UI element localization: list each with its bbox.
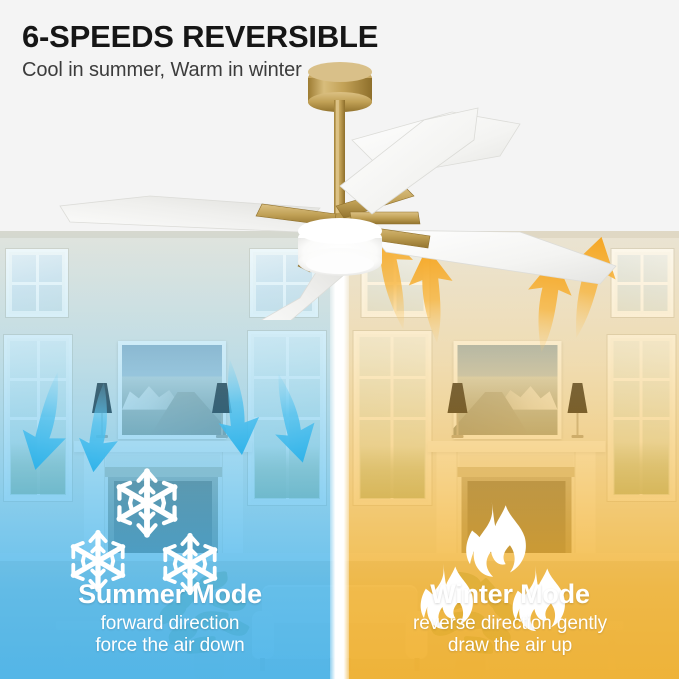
fireplace-column-right <box>436 452 457 567</box>
fireplace-column-left <box>84 452 105 567</box>
fireplace-panel <box>459 455 573 467</box>
winter-mode-line2: draw the air up <box>360 635 660 657</box>
fireplace-column-right <box>222 452 243 567</box>
window-upper-right <box>250 249 318 317</box>
panel-divider <box>330 231 349 679</box>
fan-downrod <box>334 100 345 218</box>
header-block: 6-SPEEDS REVERSIBLE Cool in summer, Warm… <box>22 18 642 83</box>
table-lamp-right <box>447 383 467 438</box>
window-tall-left <box>607 335 675 501</box>
table-lamp-left <box>567 383 587 438</box>
fireplace-lintel <box>104 467 222 477</box>
fan-blade-left <box>60 196 320 232</box>
table-lamp-right <box>212 383 232 438</box>
summer-mode-line1: forward direction <box>20 613 320 635</box>
infographic-page: 6-SPEEDS REVERSIBLE Cool in summer, Warm… <box>0 0 679 679</box>
window-upper-left <box>611 249 673 317</box>
table-lamp-left <box>92 383 112 438</box>
winter-mode-title: Winter Mode <box>360 578 660 611</box>
framed-artwork <box>118 341 226 439</box>
fireplace-lintel <box>457 467 575 477</box>
fireplace-column-left <box>574 452 595 567</box>
framed-artwork <box>453 341 561 439</box>
winter-mode-line1: reverse direction gently <box>360 613 660 635</box>
summer-mode-title: Summer Mode <box>20 578 320 611</box>
window-upper-right <box>361 249 429 317</box>
fireplace-mantel <box>427 441 605 452</box>
summer-mode-line2: force the air down <box>20 635 320 657</box>
fireplace-mantel <box>74 441 252 452</box>
window-tall-right <box>248 331 326 505</box>
page-subtitle: Cool in summer, Warm in winter <box>22 57 642 83</box>
page-title: 6-SPEEDS REVERSIBLE <box>22 18 642 56</box>
fan-blade-upper-right <box>352 112 520 176</box>
window-tall-right <box>353 331 431 505</box>
fireplace-panel <box>106 455 220 467</box>
fan-blade-front-upper <box>340 108 478 214</box>
crown-molding <box>0 231 340 238</box>
crown-molding <box>340 231 679 238</box>
window-upper-left <box>6 249 68 317</box>
winter-caption: Winter Mode reverse direction gently dra… <box>360 578 660 657</box>
summer-caption: Summer Mode forward direction force the … <box>20 578 320 657</box>
window-tall-left <box>4 335 72 501</box>
